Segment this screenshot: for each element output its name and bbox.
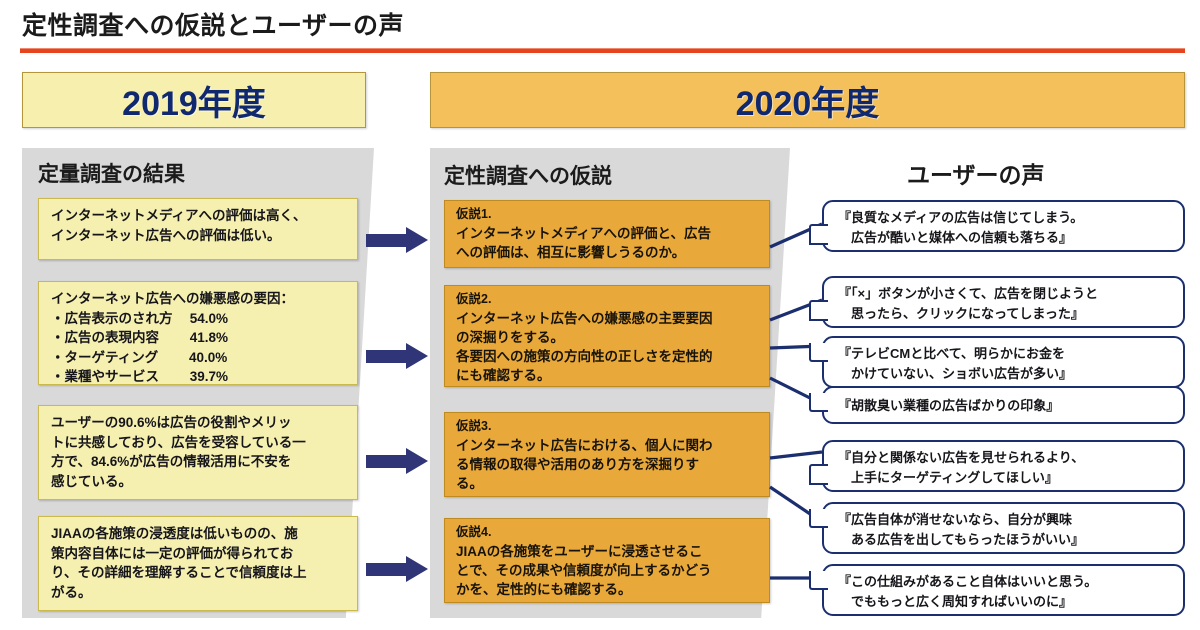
- voice-line: 『自分と関係ない広告を見せられるより、: [838, 448, 1173, 468]
- hypothesis-label: 仮説4.: [456, 524, 761, 542]
- user-voice-bubble: 『広告自体が消せないなら、自分が興味 ある広告を出してもらったほうがいい』: [822, 502, 1185, 554]
- result-line: JIAAの各施策の浸透度は低いものの、施: [51, 524, 347, 544]
- voice-line: 『良質なメディアの広告は信じてしまう。: [838, 208, 1173, 228]
- voice-line: でももっと広く周知すればいいのに』: [838, 592, 1173, 612]
- result-line: ・業種やサービス 39.7%: [51, 367, 347, 387]
- result-line: ユーザーの90.6%は広告の役割やメリッ: [51, 413, 347, 433]
- voice-line: 上手にターゲティングしてほしい』: [838, 468, 1173, 488]
- result-box: インターネットメディアへの評価は高く、 インターネット広告への評価は低い。: [38, 198, 358, 260]
- slide-canvas: 定性調査への仮説とユーザーの声 2019年度 2020年度 定量調査の結果 定性…: [0, 0, 1200, 630]
- hypothesis-box: 仮説3. インターネット広告における、個人に関わ る情報の取得や活用のあり方を深…: [444, 412, 770, 497]
- arrow-shaft: [366, 563, 408, 576]
- result-line: がる。: [51, 583, 347, 603]
- result-line: トに共感しており、広告を受容している一: [51, 433, 347, 453]
- bubble-tail: [809, 464, 828, 485]
- user-voice-bubble: 『「×」ボタンが小さくて、広告を閉じようと 思ったら、クリックになってしまった』: [822, 276, 1185, 328]
- user-voice-bubble: 『この仕組みがあること自体はいいと思う。 でももっと広く周知すればいいのに』: [822, 564, 1185, 616]
- result-line: インターネットメディアへの評価は高く、: [51, 206, 347, 226]
- hypothesis-line: インターネットメディアへの評価と、広告: [456, 224, 761, 243]
- result-line: り、その詳細を理解することで信頼度は上: [51, 563, 347, 583]
- voice-line: ある広告を出してもらったほうがいい』: [838, 530, 1173, 550]
- flow-arrow: [366, 556, 428, 582]
- result-box: JIAAの各施策の浸透度は低いものの、施 策内容自体には一定の評価が得られてお …: [38, 516, 358, 611]
- result-line: インターネット広告への嫌悪感の要因：: [51, 289, 347, 309]
- bubble-tail: [809, 300, 828, 321]
- hypothesis-line: とで、その成果や信頼度が向上するかどう: [456, 561, 761, 580]
- voice-line: 『テレビCMと比べて、明らかにお金を: [838, 344, 1173, 364]
- user-voice-bubble: 『自分と関係ない広告を見せられるより、 上手にターゲティングしてほしい』: [822, 440, 1185, 492]
- result-line: ・広告の表現内容 41.8%: [51, 328, 347, 348]
- hypothesis-line: かを、定性的にも確認する。: [456, 580, 761, 599]
- banner-2020: 2020年度: [430, 72, 1185, 128]
- hypothesis-line: インターネット広告における、個人に関わ: [456, 436, 761, 455]
- voice-line: 広告が酷いと媒体への信頼も落ちる』: [838, 228, 1173, 248]
- arrow-shaft: [366, 350, 408, 363]
- result-line: インターネット広告への評価は低い。: [51, 226, 347, 246]
- title-underline-rule: [20, 48, 1185, 53]
- user-voice-bubble: 『良質なメディアの広告は信じてしまう。 広告が酷いと媒体への信頼も落ちる』: [822, 200, 1185, 252]
- banner-2020-label: 2020年度: [736, 76, 880, 125]
- arrow-shaft: [366, 234, 408, 247]
- flow-arrow: [366, 227, 428, 253]
- hypothesis-line: JIAAの各施策をユーザーに浸透させるこ: [456, 542, 761, 561]
- hypothesis-line: る情報の取得や活用のあり方を深掘りす: [456, 455, 761, 474]
- hypothesis-label: 仮説1.: [456, 206, 761, 224]
- hypothesis-label: 仮説2.: [456, 291, 761, 309]
- arrow-head: [406, 556, 428, 582]
- hypothesis-line: インターネット広告への嫌悪感の主要要因: [456, 309, 761, 328]
- arrow-head: [406, 448, 428, 474]
- result-box: インターネット広告への嫌悪感の要因： ・広告表示のされ方 54.0% ・広告の表…: [38, 281, 358, 385]
- voice-line: 『「×」ボタンが小さくて、広告を閉じようと: [838, 284, 1173, 304]
- result-line: 方で、84.6%が広告の情報活用に不安を: [51, 452, 347, 472]
- user-voice-bubble: 『胡散臭い業種の広告ばかりの印象』: [822, 386, 1185, 424]
- flow-arrow: [366, 343, 428, 369]
- banner-2019-label: 2019年度: [122, 76, 266, 125]
- voice-line: 『この仕組みがあること自体はいいと思う。: [838, 572, 1173, 592]
- hypothesis-line: にも確認する。: [456, 366, 761, 385]
- heading-qualitative-hypotheses: 定性調査への仮説: [444, 160, 612, 190]
- hypothesis-line: の深掘りをする。: [456, 328, 761, 347]
- arrow-shaft: [366, 455, 408, 468]
- flow-arrow: [366, 448, 428, 474]
- page-title: 定性調査への仮説とユーザーの声: [22, 6, 404, 42]
- bubble-tail: [809, 343, 828, 362]
- hypothesis-box: 仮説1. インターネットメディアへの評価と、広告 への評価は、相互に影響しうるの…: [444, 200, 770, 268]
- bubble-tail: [809, 571, 828, 590]
- arrow-head: [406, 343, 428, 369]
- bubble-tail: [809, 224, 828, 245]
- heading-user-voices: ユーザーの声: [907, 156, 1045, 190]
- banner-2019: 2019年度: [22, 72, 366, 128]
- voice-line: 『広告自体が消せないなら、自分が興味: [838, 510, 1173, 530]
- result-line: 感じている。: [51, 472, 347, 492]
- hypothesis-line: る。: [456, 474, 761, 493]
- voice-line: かけていない、ショボい広告が多い』: [838, 364, 1173, 384]
- bubble-tail: [809, 509, 828, 528]
- voice-line: 『胡散臭い業種の広告ばかりの印象』: [838, 396, 1173, 416]
- hypothesis-box: 仮説4. JIAAの各施策をユーザーに浸透させるこ とで、その成果や信頼度が向上…: [444, 518, 770, 603]
- bubble-tail: [809, 393, 828, 412]
- hypothesis-line: への評価は、相互に影響しうるのか。: [456, 243, 761, 262]
- heading-quantitative-results: 定量調査の結果: [38, 158, 185, 188]
- result-line: ・ターゲティング 40.0%: [51, 348, 347, 368]
- result-box: ユーザーの90.6%は広告の役割やメリッ トに共感しており、広告を受容している一…: [38, 405, 358, 500]
- hypothesis-box: 仮説2. インターネット広告への嫌悪感の主要要因 の深掘りをする。 各要因への施…: [444, 285, 770, 387]
- voice-line: 思ったら、クリックになってしまった』: [838, 304, 1173, 324]
- result-line: 策内容自体には一定の評価が得られてお: [51, 544, 347, 564]
- arrow-head: [406, 227, 428, 253]
- result-line: ・広告表示のされ方 54.0%: [51, 309, 347, 329]
- hypothesis-line: 各要因への施策の方向性の正しさを定性的: [456, 347, 761, 366]
- user-voice-bubble: 『テレビCMと比べて、明らかにお金を かけていない、ショボい広告が多い』: [822, 336, 1185, 388]
- hypothesis-label: 仮説3.: [456, 418, 761, 436]
